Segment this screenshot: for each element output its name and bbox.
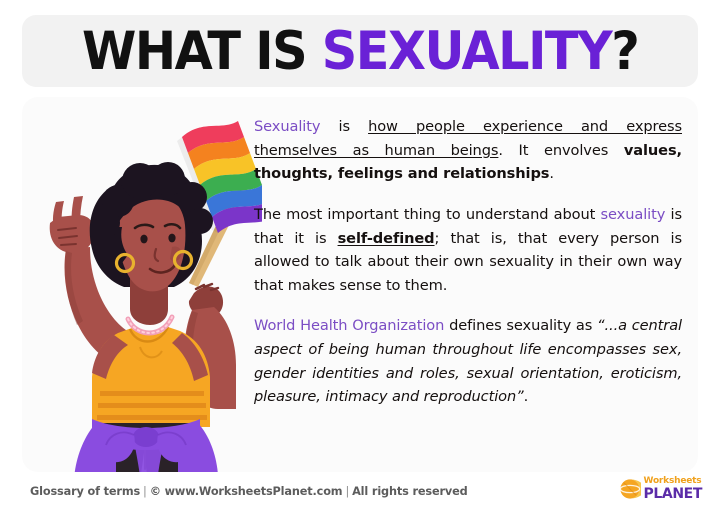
infographic-page: WHAT IS SEXUALITY? [0, 0, 720, 509]
text-segment: World Health Organization [254, 317, 444, 334]
footer-rights: All rights reserved [352, 485, 468, 498]
paragraph-2: The most important thing to understand a… [254, 203, 682, 298]
globe-icon [619, 478, 641, 500]
footer-bar: Glossary of terms|© www.WorksheetsPlanet… [0, 474, 720, 509]
content-card: Sexuality is how people experience and e… [22, 97, 698, 472]
footer-glossary: Glossary of terms [30, 485, 140, 498]
title-lead: WHAT IS [82, 21, 322, 82]
footer-separator-1: | [140, 485, 150, 498]
title-card: WHAT IS SEXUALITY? [22, 15, 698, 87]
paragraph-3: World Health Organization defines sexual… [254, 314, 682, 409]
page-title: WHAT IS SEXUALITY? [82, 25, 638, 78]
text-segment: self-defined [338, 230, 435, 247]
text-segment: The most important thing to understand a… [254, 206, 601, 223]
text-segment: is [320, 118, 368, 135]
text-segment: . [549, 165, 554, 182]
text-segment: sexuality [601, 206, 666, 223]
footer-separator-2: | [342, 485, 352, 498]
title-accent: SEXUALITY [322, 21, 612, 82]
logo-line-worksheets: Worksheets [644, 477, 702, 486]
logo-line-planet: PLANET [644, 487, 702, 501]
footer-credits: Glossary of terms|© www.WorksheetsPlanet… [30, 485, 468, 498]
text-segment: . [524, 388, 529, 405]
illustration-woman-with-pride-flag [22, 97, 262, 472]
text-segment: defines sexuality as [444, 317, 597, 334]
text-segment: . It envolves [498, 142, 623, 159]
paragraph-1: Sexuality is how people experience and e… [254, 115, 682, 186]
title-tail: ? [611, 21, 638, 82]
text-segment: Sexuality [254, 118, 320, 135]
tank-stripes [97, 391, 207, 420]
footer-copyright[interactable]: © www.WorksheetsPlanet.com [150, 485, 343, 498]
definition-text-column: Sexuality is how people experience and e… [254, 115, 682, 409]
worksheets-planet-logo[interactable]: Worksheets PLANET [619, 477, 702, 501]
